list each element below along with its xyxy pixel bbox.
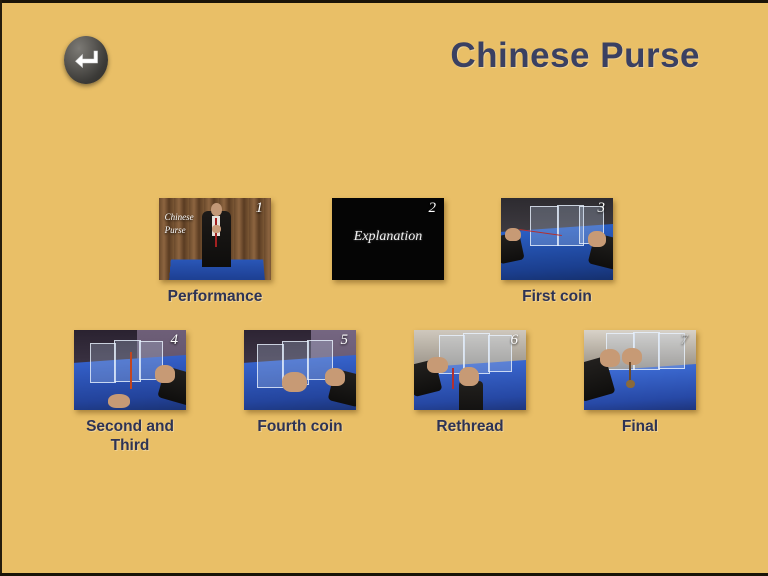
- chapter-thumbnail-6[interactable]: 6: [414, 330, 526, 410]
- chapter-item-7[interactable]: 7 Final: [584, 330, 696, 436]
- chapter-caption-4-line2: Third: [74, 436, 186, 455]
- chapter-thumbnail-5[interactable]: 5: [244, 330, 356, 410]
- chapter-caption-7: Final: [584, 417, 696, 436]
- chapter-thumbnail-1[interactable]: Chinese Purse 1: [159, 198, 271, 280]
- chapter-caption-5: Fourth coin: [244, 417, 356, 436]
- chapter-caption-4-line1: Second and: [74, 417, 186, 436]
- chapter-caption-1: Performance: [159, 287, 271, 306]
- chapter-item-4[interactable]: 4 Second and Third: [74, 330, 186, 456]
- chapter-thumbnail-7[interactable]: 7: [584, 330, 696, 410]
- scene-closeup-final: [584, 330, 696, 410]
- chapter-item-5[interactable]: 5 Fourth coin: [244, 330, 356, 436]
- scene-closeup-second-third: [74, 330, 186, 410]
- page-title: Chinese Purse: [450, 36, 700, 76]
- chapter-number-3: 3: [598, 200, 606, 217]
- left-letterbox-edge: [0, 0, 2, 576]
- chapter-number-5: 5: [341, 332, 349, 349]
- scene-explanation: Explanation: [332, 198, 444, 280]
- chapter-number-7: 7: [681, 332, 689, 349]
- thumbnail-script-overlay: Chinese Purse: [165, 211, 194, 237]
- chapter-caption-3: First coin: [501, 287, 613, 306]
- scene-performance: Chinese Purse: [159, 198, 271, 280]
- scene-closeup-fourth-coin: [244, 330, 356, 410]
- chapter-number-4: 4: [171, 332, 179, 349]
- chapter-number-2: 2: [429, 200, 437, 217]
- chapter-item-3[interactable]: 3 First coin: [501, 198, 613, 306]
- chapter-thumbnail-3[interactable]: 3: [501, 198, 613, 280]
- back-button[interactable]: [64, 36, 108, 84]
- chapter-number-1: 1: [256, 200, 264, 217]
- scene-closeup-first-coin: [501, 198, 613, 280]
- chapter-number-6: 6: [511, 332, 519, 349]
- dvd-menu-screen: Chinese Purse Chinese Purse 1 Performanc…: [0, 0, 768, 576]
- chapter-caption-6: Rethread: [414, 417, 526, 436]
- chapter-thumbnail-2[interactable]: Explanation 2: [332, 198, 444, 280]
- thumbnail-script-overlay: Explanation: [332, 229, 444, 245]
- chapter-item-6[interactable]: 6 Rethread: [414, 330, 526, 436]
- chapter-caption-4: Second and Third: [74, 417, 186, 456]
- top-letterbox-edge: [0, 0, 768, 3]
- chapter-thumbnail-4[interactable]: 4: [74, 330, 186, 410]
- chapter-item-2[interactable]: Explanation 2: [332, 198, 444, 280]
- return-arrow-icon: [73, 48, 99, 72]
- chapter-item-1[interactable]: Chinese Purse 1 Performance: [159, 198, 271, 306]
- scene-closeup-rethread: [414, 330, 526, 410]
